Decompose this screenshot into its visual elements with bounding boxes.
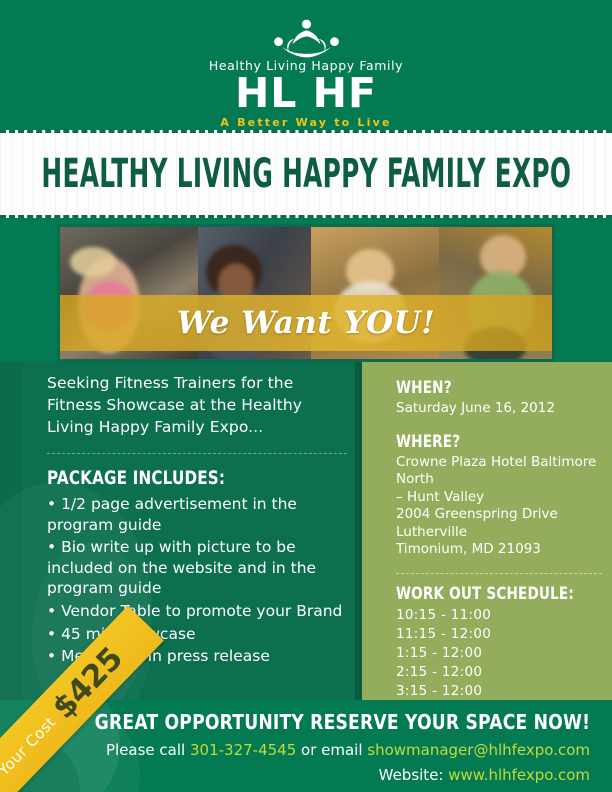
- logo: Healthy Living Happy Family HL HF A Bett…: [0, 18, 612, 129]
- list-item: 10:15 - 11:00: [396, 606, 602, 625]
- list-item: • 1/2 page advertisement in the program …: [47, 494, 347, 535]
- title-band: HEALTHY LIVING HAPPY FAMILY EXPO: [0, 130, 612, 218]
- call-middle-label: or email: [296, 741, 367, 759]
- photo-overlay-band: We Want YOU!: [60, 295, 552, 351]
- logo-subtitle: A Better Way to Live: [0, 116, 612, 129]
- lead-paragraph: Seeking Fitness Trainers for the Fitness…: [47, 372, 347, 438]
- when-heading: WHEN?: [396, 378, 561, 398]
- list-item: • Vendor Table to promote your Brand: [47, 601, 347, 622]
- when-value: Saturday June 16, 2012: [396, 400, 602, 418]
- where-line-3: 2004 Greenspring Drive Lutherville: [396, 506, 602, 541]
- logo-monogram: HL HF: [0, 74, 612, 113]
- page-title: HEALTHY LIVING HAPPY FAMILY EXPO: [41, 151, 571, 197]
- header-band: Healthy Living Happy Family HL HF A Bett…: [0, 0, 612, 130]
- right-panel-content: WHEN? Saturday June 16, 2012 WHERE? Crow…: [396, 378, 602, 721]
- photo-person-shape: [70, 247, 116, 277]
- list-item: 3:15 - 12:00: [396, 682, 602, 701]
- website-url[interactable]: www.hlhfexpo.com: [448, 766, 590, 784]
- where-line-1: Crowne Plaza Hotel Baltimore North: [396, 454, 602, 489]
- dashed-divider: [47, 453, 347, 454]
- website-label: Website:: [379, 766, 449, 784]
- where-line-4: Timonium, MD 21093: [396, 541, 602, 559]
- website-line: Website: www.hlhfexpo.com: [14, 766, 590, 784]
- list-item: 1:15 - 12:00: [396, 644, 602, 663]
- right-info-panel: WHEN? Saturday June 16, 2012 WHERE? Crow…: [362, 362, 612, 700]
- left-content-panel: Seeking Fitness Trainers for the Fitness…: [0, 362, 372, 700]
- left-panel-content: Seeking Fitness Trainers for the Fitness…: [47, 372, 347, 669]
- footer-content: GREAT OPPORTUNITY RESERVE YOUR SPACE NOW…: [14, 710, 590, 784]
- photo-banner: We Want YOU!: [57, 224, 555, 362]
- where-line-2: – Hunt Valley: [396, 489, 602, 507]
- package-includes-heading: PACKAGE INCLUDES:: [47, 467, 287, 489]
- three-people-figures-icon: [254, 18, 359, 60]
- where-heading: WHERE?: [396, 432, 561, 452]
- dashed-divider: [396, 573, 602, 574]
- column-divider: [355, 362, 362, 700]
- phone-number[interactable]: 301-327-4545: [190, 741, 296, 759]
- list-item: • Bio write up with picture to be includ…: [47, 537, 347, 599]
- list-item: 2:15 - 12:00: [396, 663, 602, 682]
- call-prefix-label: Please call: [106, 741, 190, 759]
- footer-headline: GREAT OPPORTUNITY RESERVE YOUR SPACE NOW…: [95, 710, 590, 734]
- photo-overlay-text: We Want YOU!: [177, 305, 435, 341]
- schedule-heading: WORK OUT SCHEDULE:: [396, 584, 561, 604]
- list-item: 11:15 - 12:00: [396, 625, 602, 644]
- contact-line: Please call 301-327-4545 or email showma…: [14, 741, 590, 759]
- email-address[interactable]: showmanager@hlhfexpo.com: [367, 741, 590, 759]
- spacer: [396, 418, 602, 432]
- flyer-page: Healthy Living Happy Family HL HF A Bett…: [0, 0, 612, 792]
